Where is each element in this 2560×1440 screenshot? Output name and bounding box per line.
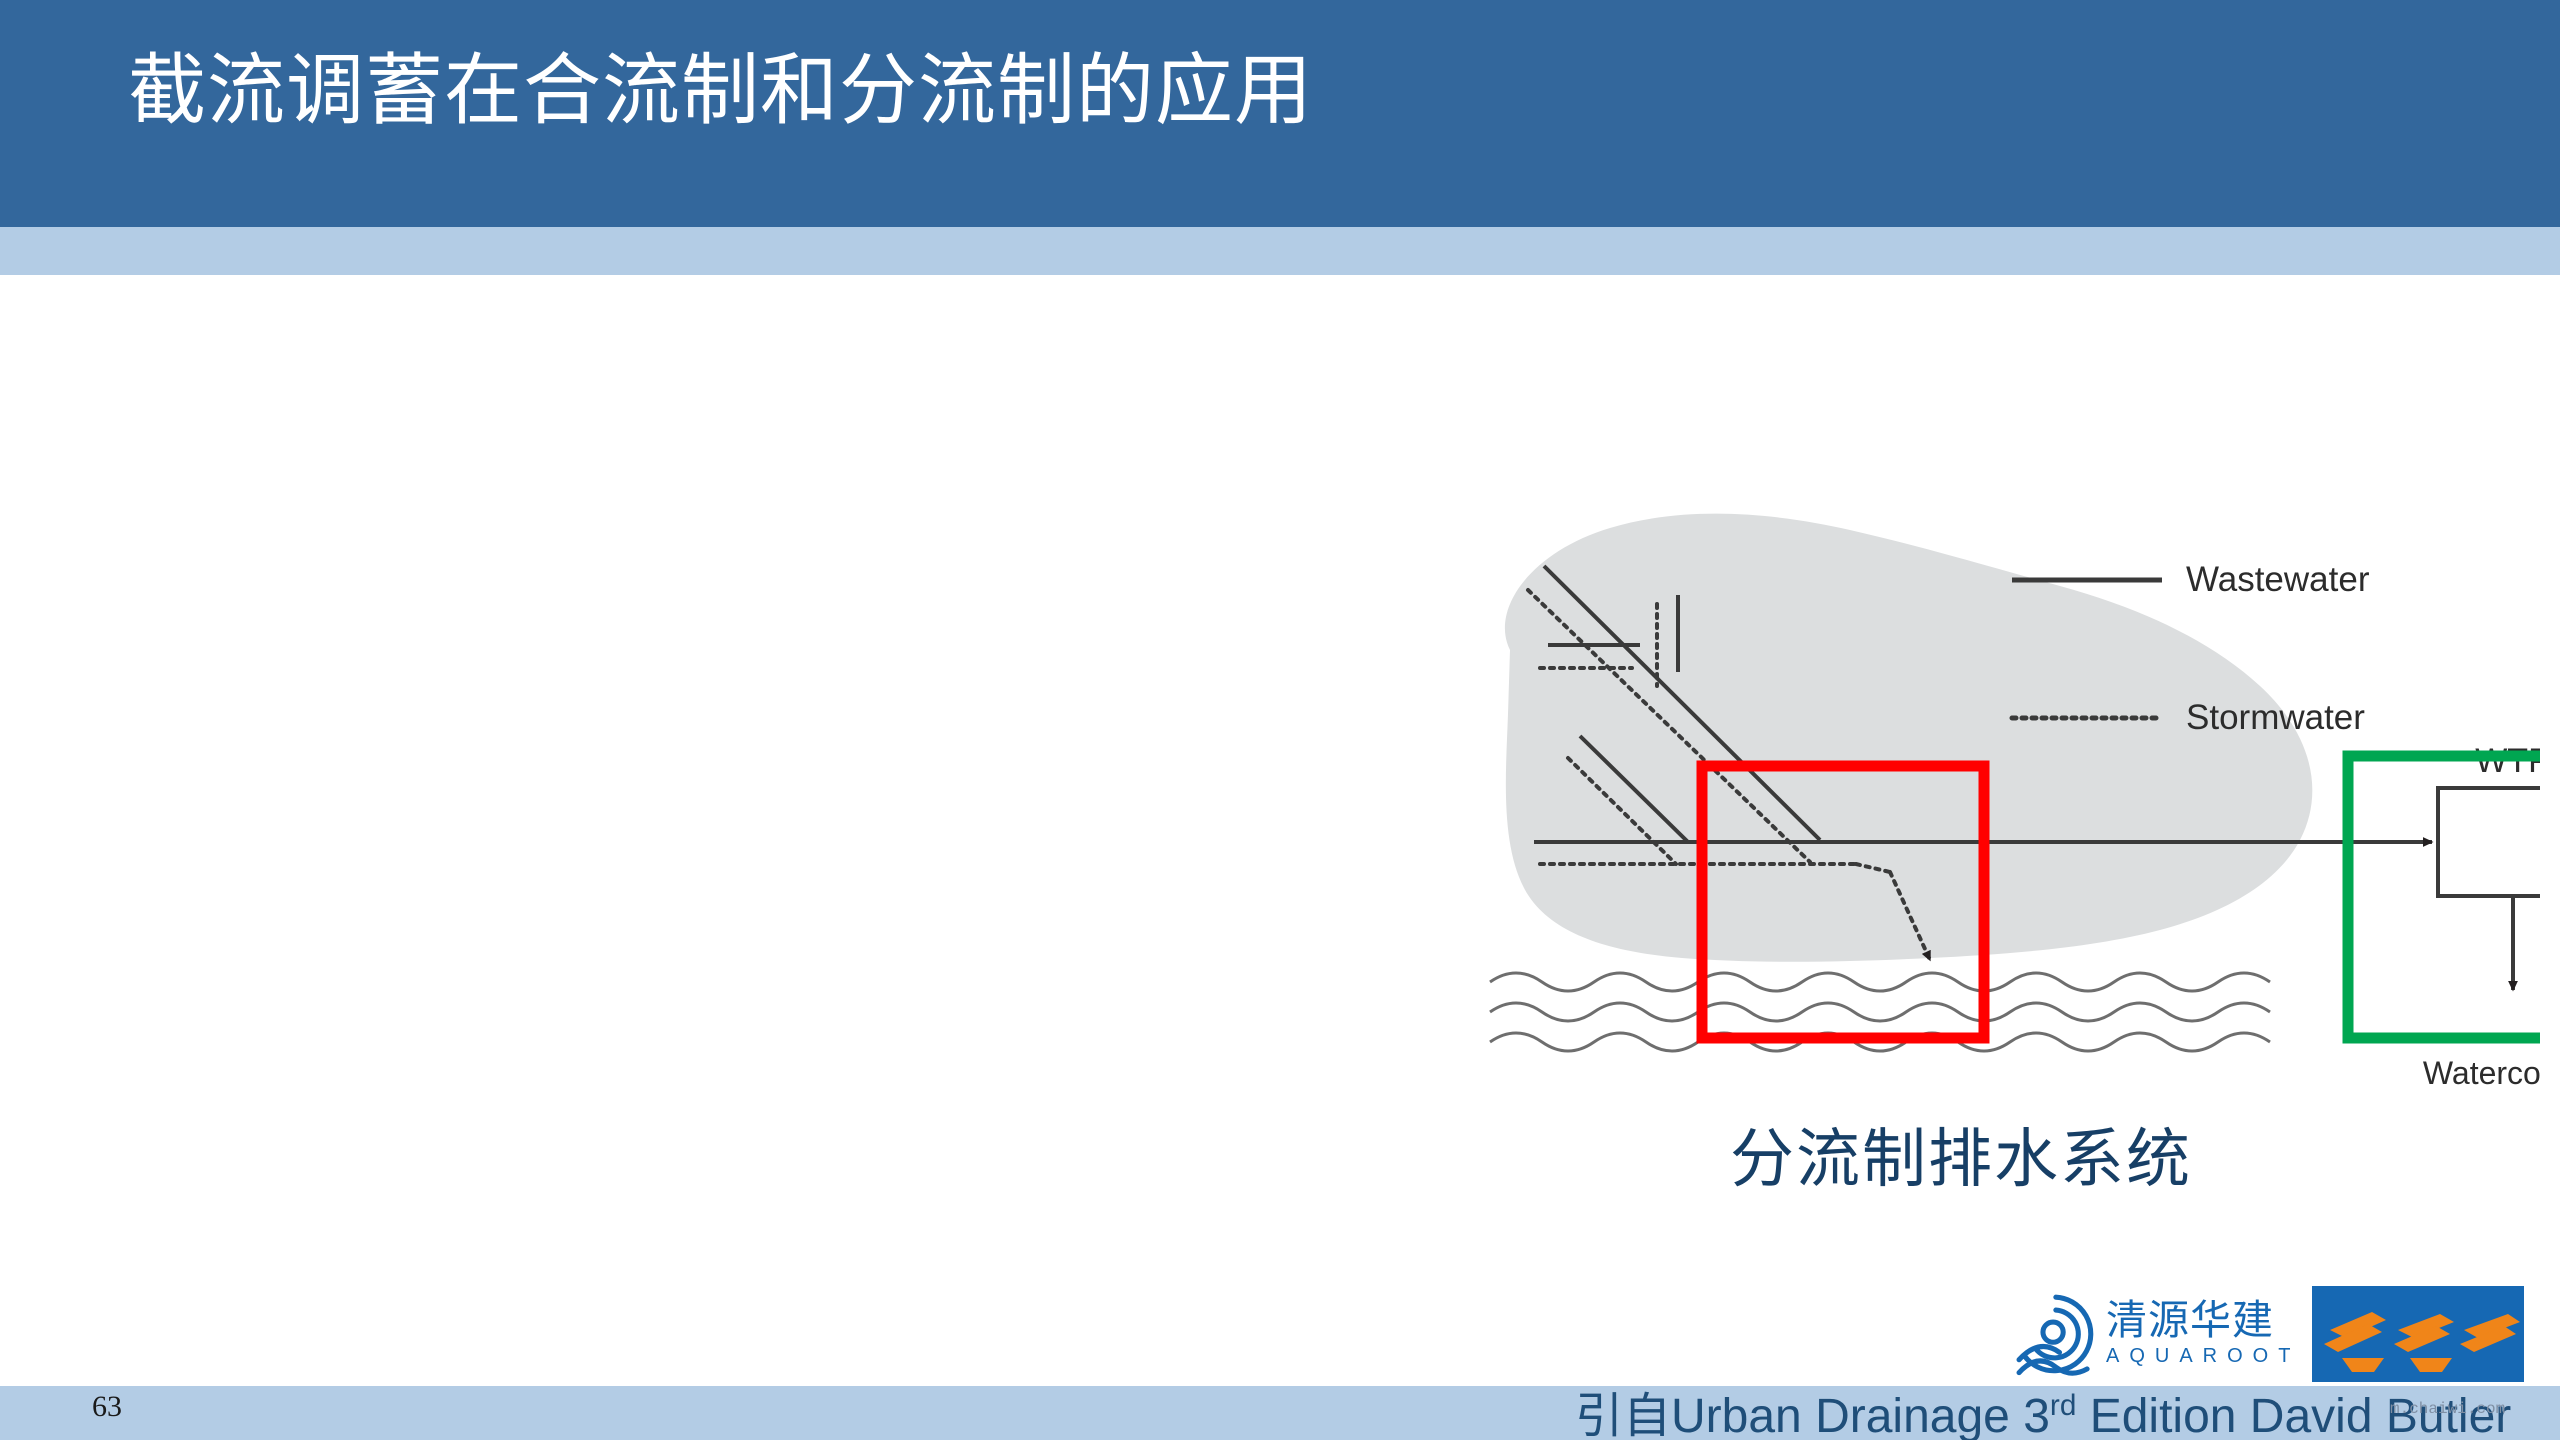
slide-header-accent-band xyxy=(0,227,2560,275)
page-number: 63 xyxy=(92,1390,122,1424)
logo-row: 清源华建 AQUAROOT xyxy=(2008,1286,2524,1382)
drainage-system-diagram: WTP Watercourse Wastewater Stormwater xyxy=(1420,490,2540,1110)
legend-label-wastewater: Wastewater xyxy=(2186,560,2370,599)
source-credit-ordinal: rd xyxy=(2050,1389,2076,1422)
aquaroot-logo: 清源华建 AQUAROOT xyxy=(2008,1286,2300,1382)
site-watermark: m.chaiwi.com xyxy=(2390,1400,2505,1418)
diagram-caption: 分流制排水系统 xyxy=(1730,1108,2192,1200)
source-credit: 引自Urban Drainage 3rd Edition David Butle… xyxy=(1575,1376,2511,1440)
slide-canvas: 截流调蓄在合流制和分流制的应用 xyxy=(0,0,2560,1440)
page-title: 截流调蓄在合流制和分流制的应用 xyxy=(128,44,2328,136)
bgy-logo-glyphs xyxy=(2312,1286,2524,1382)
aquaroot-wordmark: 清源华建 AQUAROOT xyxy=(2106,1299,2300,1368)
legend-label-stormwater: Stormwater xyxy=(2186,698,2365,737)
aquaroot-name-cn: 清源华建 xyxy=(2106,1299,2300,1342)
aquaroot-name-en: AQUAROOT xyxy=(2106,1343,2300,1369)
aquaroot-spiral-icon xyxy=(2008,1288,2100,1380)
watercourse-label: Watercourse xyxy=(2423,1055,2540,1091)
wtp-box xyxy=(2438,788,2540,896)
bgy-logo xyxy=(2312,1286,2524,1382)
source-credit-prefix: 引自Urban Drainage 3 xyxy=(1575,1390,2050,1440)
